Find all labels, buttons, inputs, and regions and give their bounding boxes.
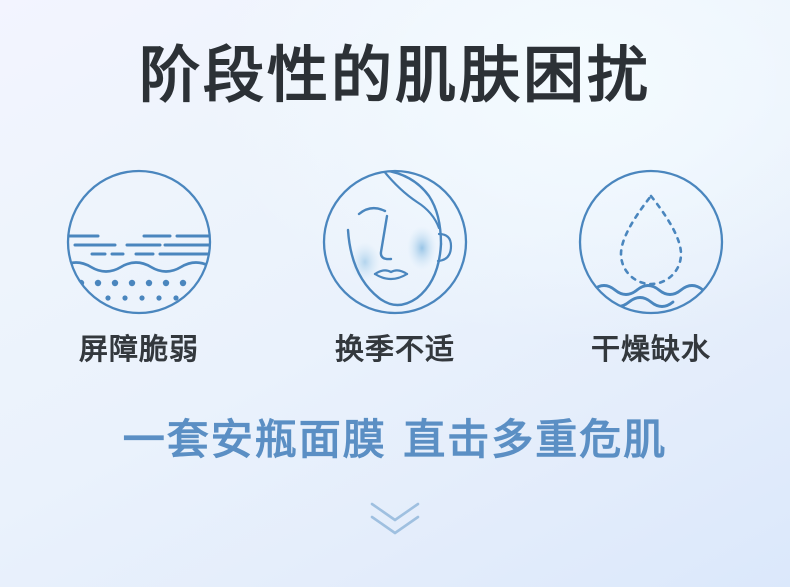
concern-icon-row: 屏障脆弱 — [0, 168, 790, 366]
scroll-hint[interactable] — [0, 498, 790, 538]
droplet-outline — [621, 196, 681, 284]
face-sensitivity-icon — [321, 168, 469, 316]
promo-poster: 阶段性的肌肤困扰 — [0, 0, 790, 587]
concern-item-season: 换季不适 — [321, 168, 469, 366]
page-title: 阶段性的肌肤困扰 — [0, 40, 790, 112]
concern-label-dryness: 干燥缺水 — [591, 332, 711, 366]
concern-label-barrier: 屏障脆弱 — [79, 332, 199, 366]
skin-barrier-icon — [65, 168, 213, 316]
tagline: 一套安瓶面膜 直击多重危肌 — [0, 414, 790, 466]
concern-item-barrier: 屏障脆弱 — [65, 168, 213, 366]
concern-label-season: 换季不适 — [335, 332, 455, 366]
double-chevron-down-icon[interactable] — [364, 498, 426, 538]
water-droplet-icon — [577, 168, 725, 316]
concern-item-dryness: 干燥缺水 — [577, 168, 725, 366]
